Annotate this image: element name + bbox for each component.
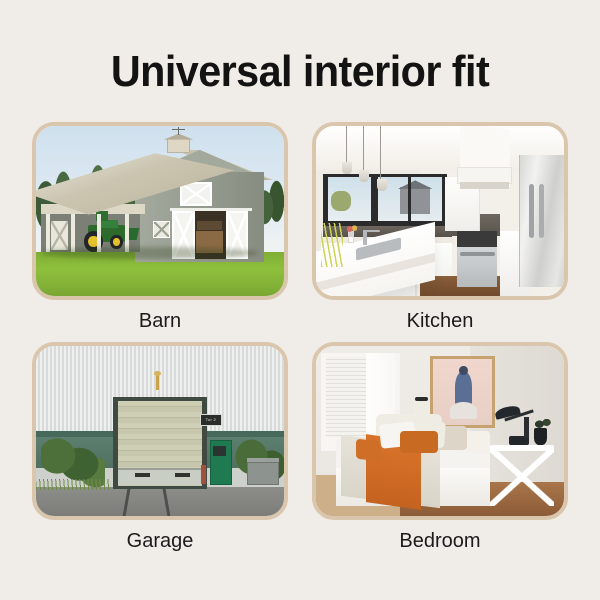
kitchen-card-frame — [312, 122, 568, 300]
barn-card-frame — [32, 122, 288, 300]
feature-card-garage[interactable]: Tor 2 Garage — [32, 342, 288, 554]
product-feature-panel: Universal interior fit — [0, 0, 600, 600]
feature-card-grid: Barn — [32, 122, 568, 554]
kitchen-photo — [316, 126, 564, 296]
garage-card-frame: Tor 2 — [32, 342, 288, 520]
bedroom-card-frame — [312, 342, 568, 520]
bedroom-photo — [316, 346, 564, 516]
garage-door-sign: Tor 2 — [200, 414, 222, 426]
feature-card-kitchen[interactable]: Kitchen — [312, 122, 568, 334]
barn-card-label: Barn — [32, 308, 288, 334]
kitchen-card-label: Kitchen — [312, 308, 568, 334]
garage-photo: Tor 2 — [36, 346, 284, 516]
bedroom-card-label: Bedroom — [312, 528, 568, 554]
feature-card-bedroom[interactable]: Bedroom — [312, 342, 568, 554]
feature-card-barn[interactable]: Barn — [32, 122, 288, 334]
garage-card-label: Garage — [32, 528, 288, 554]
page-title: Universal interior fit — [18, 46, 582, 98]
barn-photo — [36, 126, 284, 296]
